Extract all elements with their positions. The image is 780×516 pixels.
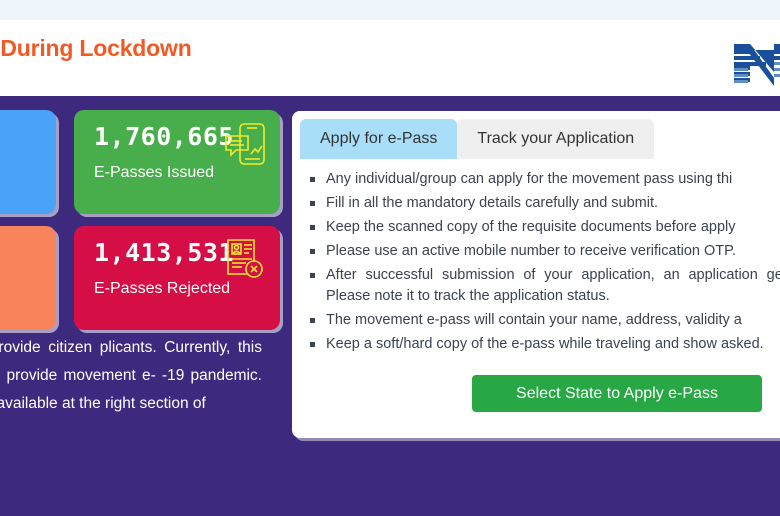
nic-logo-icon xyxy=(734,42,780,86)
page-subtitle: t of India xyxy=(0,63,192,91)
stat-row-top: 1,760,665 E-Passes Issued xyxy=(0,110,280,214)
stat-cards-group: 1,760,665 E-Passes Issued xyxy=(0,110,280,342)
list-item: Keep a soft/hard copy of the e-pass whil… xyxy=(306,334,780,355)
page-title: Movement During Lockdown xyxy=(0,33,192,63)
list-item: Keep the scanned copy of the requisite d… xyxy=(306,217,780,238)
list-item: Fill in all the mandatory details carefu… xyxy=(306,193,780,214)
list-item: Please use an active mobile number to re… xyxy=(306,241,780,262)
page-header: Movement During Lockdown t of India xyxy=(0,20,780,99)
stat-label-issued: E-Passes Issued xyxy=(94,164,214,182)
panel-tabs: Apply for e-Pass Track your Application xyxy=(292,111,780,159)
mobile-chat-icon xyxy=(224,122,266,168)
list-item: After successful submission of your appl… xyxy=(306,265,780,307)
tab-track-your-application[interactable]: Track your Application xyxy=(457,119,654,159)
rejected-document-icon xyxy=(224,238,266,284)
list-item: The movement e-pass will contain your na… xyxy=(306,310,780,331)
epass-panel: Apply for e-Pass Track your Application … xyxy=(292,111,780,438)
panel-body: Any individual/group can apply for the m… xyxy=(292,159,780,438)
stat-card-epasses-issued: 1,760,665 E-Passes Issued xyxy=(74,110,280,214)
instructions-list: Any individual/group can apply for the m… xyxy=(306,169,780,355)
stat-label-rejected: E-Passes Rejected xyxy=(94,280,230,298)
top-strip xyxy=(0,0,780,20)
select-state-button[interactable]: Select State to Apply e-Pass xyxy=(472,375,762,412)
stat-card-partial-orange xyxy=(0,226,56,330)
stat-card-partial-blue xyxy=(0,110,56,214)
header-title-group: Movement During Lockdown t of India xyxy=(0,33,192,91)
stat-card-epasses-rejected: 1,413,531 E-Passes Rejected xyxy=(74,226,280,330)
stat-value-rejected: 1,413,531 xyxy=(94,238,234,267)
tab-apply-for-epass[interactable]: Apply for e-Pass xyxy=(300,119,457,159)
description-paragraph: r various states to provide citizen plic… xyxy=(0,334,262,418)
stat-value-issued: 1,760,665 xyxy=(94,122,234,151)
stat-row-bottom: 1,413,531 E-Passes Rejected xyxy=(0,226,280,330)
main-content: 1,760,665 E-Passes Issued xyxy=(0,102,780,516)
list-item: Any individual/group can apply for the m… xyxy=(306,169,780,190)
